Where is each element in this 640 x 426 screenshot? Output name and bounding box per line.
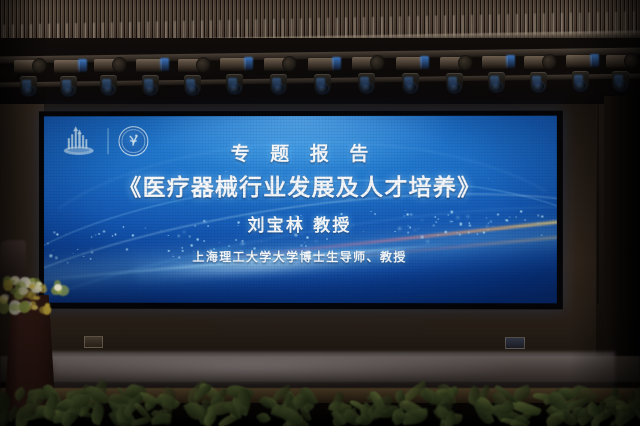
potted-plant (248, 372, 320, 426)
wall-panel-right-small (505, 337, 525, 349)
light-blue-spill (62, 80, 71, 90)
flower-blossom (1, 294, 10, 300)
blue-gel-light (160, 58, 169, 71)
truss-light-lens (32, 58, 47, 74)
truss-light-lens (624, 53, 639, 69)
wall-column-right (604, 96, 640, 358)
potted-plant (176, 372, 248, 426)
blue-gel-light (332, 57, 341, 70)
light-blue-spill (22, 80, 31, 90)
plant-leaf (636, 413, 640, 426)
flower-blossom (29, 284, 34, 289)
light-blue-spill (186, 79, 195, 89)
wall-outlet-left (84, 336, 103, 348)
light-blue-spill (614, 75, 623, 85)
plant-leaf (13, 386, 28, 401)
truss-light-lens (282, 56, 297, 72)
flower-blossom (0, 301, 9, 314)
blue-gel-light (244, 57, 253, 70)
flower-blossom (45, 303, 51, 307)
light-blue-spill (574, 75, 583, 85)
conference-hall-photo: 专 题 报 告 《医疗器械行业发展及人才培养》 刘宝林 教授 上海理工大学大学博… (0, 0, 640, 426)
light-blue-spill (360, 77, 369, 87)
flower-blossom (9, 304, 22, 312)
truss-light-housing (482, 56, 508, 69)
blue-gel-light (506, 55, 515, 68)
blue-gel-light (590, 54, 599, 67)
light-blue-spill (144, 79, 153, 89)
truss-light-lens (458, 55, 473, 71)
light-blue-spill (448, 77, 457, 87)
wall-seam (597, 104, 599, 304)
flower-blossom (30, 278, 34, 282)
potted-plant (318, 372, 390, 426)
truss-light-housing (136, 59, 162, 72)
light-blue-spill (272, 78, 281, 88)
potted-plant (38, 372, 110, 426)
potted-plant (390, 372, 462, 426)
truss-light-housing (54, 60, 80, 73)
truss-light-housing (220, 58, 246, 71)
potted-plant (106, 372, 178, 426)
light-blue-spill (102, 79, 111, 89)
truss-light-lens (542, 54, 557, 70)
flower-blossom (33, 296, 40, 300)
truss-light-housing (396, 57, 422, 70)
flower-arrangement (0, 270, 64, 314)
screen-vignette (44, 116, 557, 304)
truss-light-lens (112, 57, 127, 73)
truss-light-housing (308, 58, 334, 71)
led-screen-surface: 专 题 报 告 《医疗器械行业发展及人才培养》 刘宝林 教授 上海理工大学大学博… (44, 116, 557, 304)
blue-gel-light (78, 59, 87, 72)
light-blue-spill (316, 78, 325, 88)
potted-plant (458, 372, 530, 426)
truss-light-lens (196, 57, 211, 73)
blue-gel-light (420, 56, 429, 69)
plant-leaf (255, 410, 270, 425)
light-blue-spill (532, 76, 541, 86)
led-screen-frame: 专 题 报 告 《医疗器械行业发展及人才培养》 刘宝林 教授 上海理工大学大学博… (39, 111, 563, 310)
potted-plant (580, 372, 640, 426)
light-blue-spill (404, 77, 413, 87)
truss-light-lens (370, 55, 385, 71)
light-blue-spill (228, 78, 237, 88)
truss-light-housing (566, 55, 592, 68)
light-blue-spill (490, 76, 499, 86)
